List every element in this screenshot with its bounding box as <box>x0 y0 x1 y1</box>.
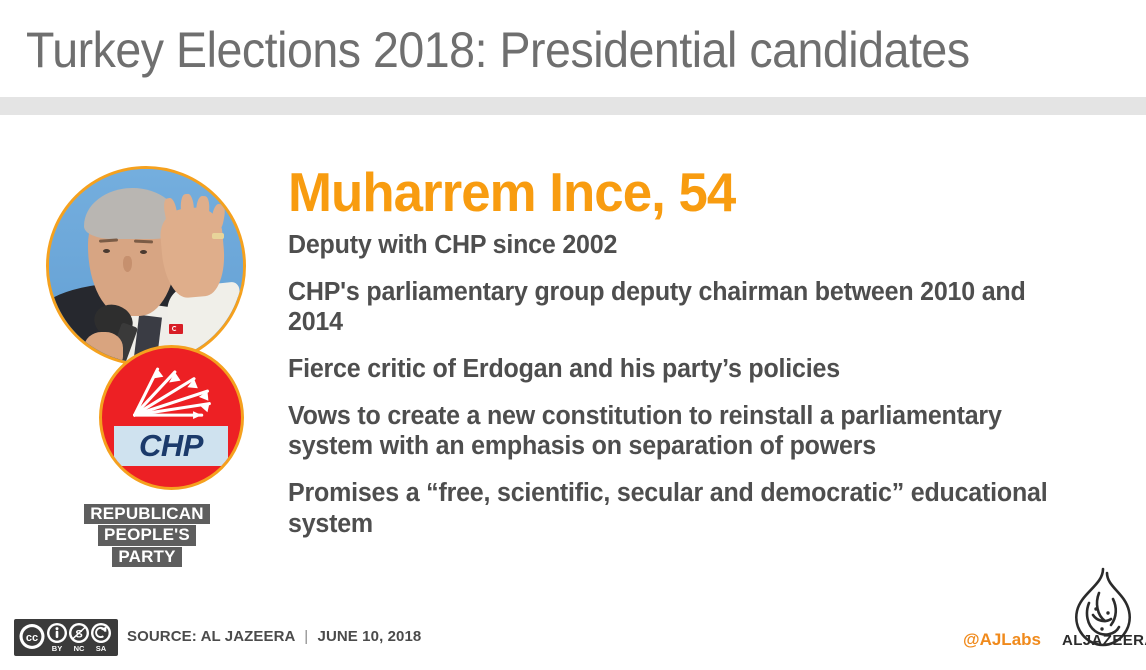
candidate-fact: Vows to create a new constitution to rei… <box>288 401 1062 461</box>
candidate-fact: Deputy with CHP since 2002 <box>288 230 1062 260</box>
candidate-fact: Promises a “free, scientific, secular an… <box>288 478 1062 538</box>
candidate-fact: CHP's parliamentary group deputy chairma… <box>288 277 1062 337</box>
header-divider <box>0 97 1146 115</box>
aljazeera-wordmark: ALJAZEERA <box>1062 632 1146 649</box>
footer: cc S BY NC SA <box>0 605 1146 670</box>
candidate-fact: Fierce critic of Erdogan and his party’s… <box>288 354 1062 384</box>
source-separator: | <box>299 628 313 645</box>
candidate-name: Muharrem Ince, 54 <box>288 165 1046 220</box>
party-name-line-1: REPUBLICAN <box>84 504 209 524</box>
creative-commons-license-badge[interactable]: cc S BY NC SA <box>14 619 118 656</box>
portrait-nose <box>123 256 132 272</box>
party-name-line-3: PARTY <box>112 547 181 567</box>
ajlabs-handle[interactable]: @AJLabs <box>963 630 1041 650</box>
chp-wordmark-plate: CHP <box>114 426 228 466</box>
source-label: SOURCE: AL JAZEERA <box>127 628 295 645</box>
infographic-page: Turkey Elections 2018: Presidential cand… <box>0 0 1146 670</box>
page-title: Turkey Elections 2018: Presidential cand… <box>26 21 970 79</box>
publication-date: JUNE 10, 2018 <box>318 628 422 645</box>
candidate-details: Muharrem Ince, 54 Deputy with CHP since … <box>288 165 1078 539</box>
source-and-date: SOURCE: AL JAZEERA | JUNE 10, 2018 <box>127 628 421 645</box>
portrait-ring <box>212 233 224 239</box>
svg-text:cc: cc <box>26 632 38 644</box>
turkish-flag-pin-icon <box>169 324 183 334</box>
portrait-eye-right <box>140 250 147 254</box>
svg-text:BY: BY <box>52 644 62 653</box>
cc-license-icons: cc S BY NC SA <box>14 619 118 656</box>
portrait-eye-left <box>103 249 110 253</box>
candidate-media-column: CHP REPUBLICAN PEOPLE'S PARTY <box>44 166 250 576</box>
portrait-finger <box>180 194 194 230</box>
portrait-eyebrow-right <box>134 239 154 243</box>
chp-party-logo: CHP <box>99 345 244 490</box>
svg-text:SA: SA <box>96 644 107 653</box>
party-name-line-2: PEOPLE'S <box>98 525 196 545</box>
svg-text:NC: NC <box>74 644 85 653</box>
chp-wordmark-text: CHP <box>114 426 228 466</box>
chp-six-arrows-icon <box>102 348 241 487</box>
candidate-portrait <box>46 166 246 366</box>
party-name-label: REPUBLICAN PEOPLE'S PARTY <box>44 504 250 568</box>
